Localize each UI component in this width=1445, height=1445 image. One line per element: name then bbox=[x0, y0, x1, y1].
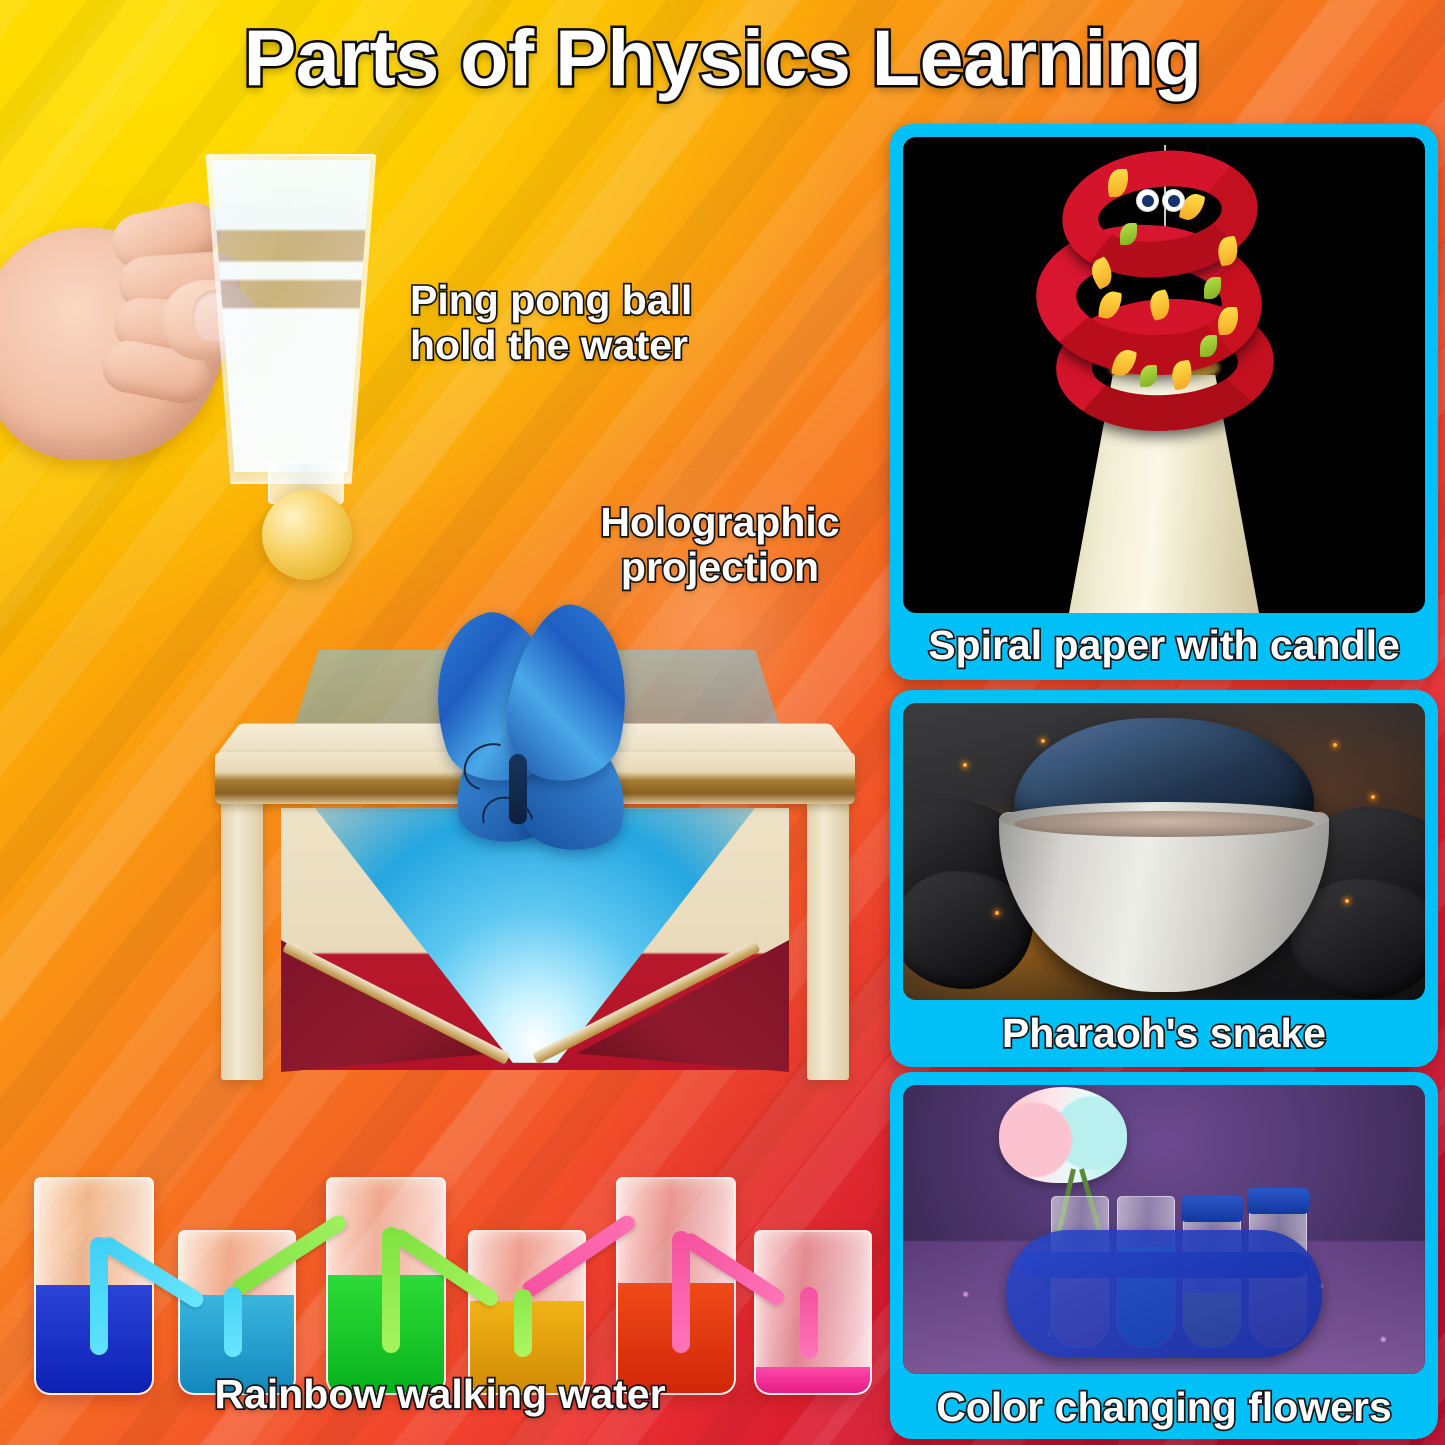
panel-color-changing-flowers[interactable]: Color changing flowers bbox=[890, 1072, 1438, 1439]
panel-flowers-label: Color changing flowers bbox=[890, 1387, 1438, 1428]
snake-eye bbox=[1162, 189, 1185, 212]
paper-wick bbox=[224, 1287, 242, 1357]
page-title: Parts of Physics Learning bbox=[0, 12, 1445, 104]
panel-spiral-paper[interactable]: Spiral paper with candle bbox=[890, 124, 1438, 680]
spiral-paper-image bbox=[903, 137, 1425, 613]
paper-wick bbox=[800, 1287, 818, 1359]
panel-pharaoh-label: Pharaoh's snake bbox=[890, 1013, 1438, 1054]
walking-water-label: Rainbow walking water bbox=[0, 1372, 880, 1417]
snake-eye bbox=[1136, 189, 1159, 212]
ember bbox=[1041, 739, 1045, 743]
tube-rack bbox=[1006, 1230, 1322, 1358]
tube-cap bbox=[1247, 1188, 1309, 1214]
ember bbox=[995, 911, 999, 915]
callout-holographic: Holographic projection bbox=[580, 500, 860, 590]
ember bbox=[1345, 899, 1349, 903]
hologram-butterfly bbox=[381, 602, 681, 902]
ember bbox=[1333, 743, 1337, 747]
paper-wick bbox=[672, 1231, 690, 1353]
callout-ping-pong: Ping pong ball hold the water bbox=[410, 278, 740, 368]
callout-holographic-line2: projection bbox=[580, 545, 860, 590]
rose-flower bbox=[999, 1087, 1127, 1183]
spiral-snake bbox=[1004, 149, 1324, 449]
paper-wick bbox=[514, 1289, 532, 1357]
rainbow-walking-water-image bbox=[6, 1155, 886, 1395]
pharaohs-snake-image bbox=[903, 703, 1425, 1000]
projector-leg-left bbox=[221, 800, 263, 1080]
ping-pong-ball-experiment-image bbox=[0, 150, 414, 620]
tube-cap bbox=[1181, 1196, 1243, 1222]
bottle-water bbox=[208, 160, 374, 472]
ember bbox=[963, 763, 967, 767]
panel-pharaohs-snake[interactable]: Pharaoh's snake bbox=[890, 690, 1438, 1067]
projector-leg-right bbox=[807, 800, 849, 1080]
callout-ping-pong-line1: Ping pong ball bbox=[410, 278, 740, 323]
ash-and-sand bbox=[1014, 811, 1314, 837]
color-changing-flowers-image bbox=[903, 1085, 1425, 1374]
paper-wick bbox=[382, 1227, 400, 1353]
callout-holographic-line1: Holographic bbox=[580, 500, 860, 545]
callout-ping-pong-line2: hold the water bbox=[410, 323, 740, 368]
paper-wick bbox=[90, 1237, 108, 1355]
ping-pong-ball bbox=[262, 490, 352, 580]
ember bbox=[1371, 795, 1375, 799]
holographic-projector-image bbox=[185, 640, 885, 1160]
panel-spiral-label: Spiral paper with candle bbox=[890, 625, 1438, 666]
